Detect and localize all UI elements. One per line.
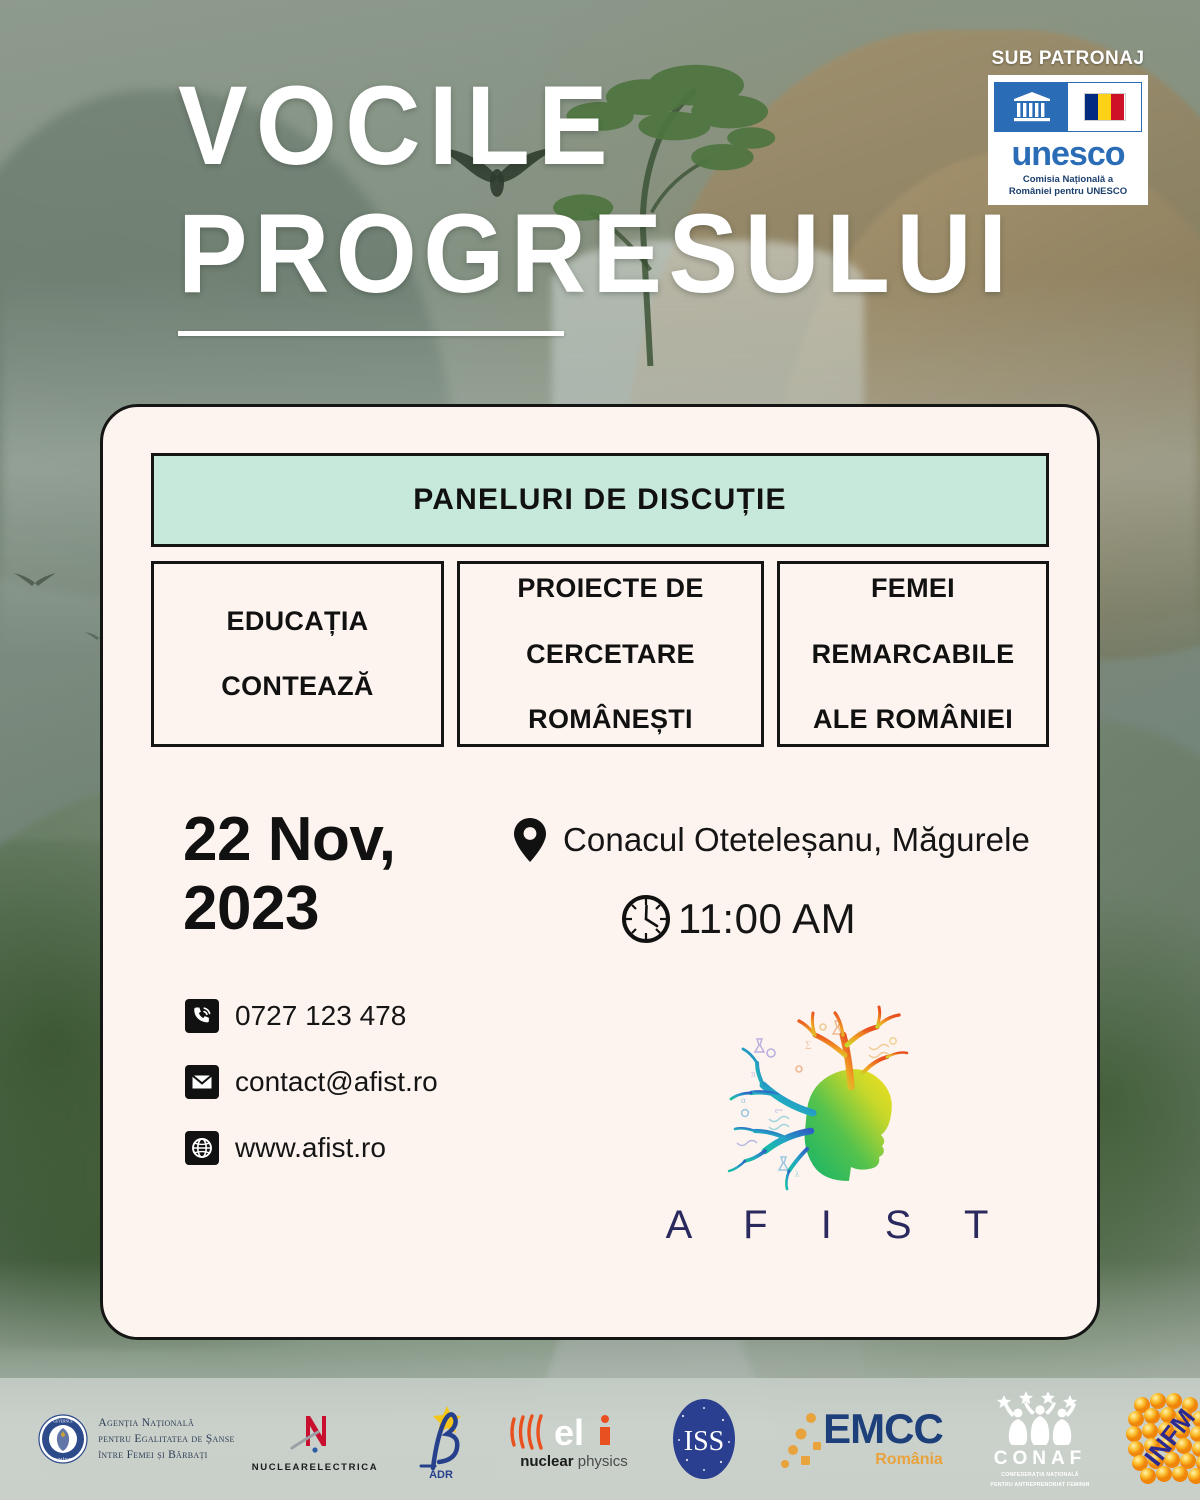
unesco-wordmark: unesco bbox=[994, 137, 1142, 171]
event-details-row: 22 Nov, 2023 Conacul Oteteleșanu, Măgure… bbox=[151, 805, 1049, 945]
sponsor-anes-text: Agenția Națională pentru Egalitatea de Ș… bbox=[98, 1415, 234, 1464]
contact-email-label: contact@afist.ro bbox=[235, 1066, 438, 1098]
sponsor-iss: ISS bbox=[648, 1378, 760, 1500]
panels-row: EDUCAȚIACONTEAZĂ PROIECTE DECERCETAREROM… bbox=[151, 561, 1049, 747]
eli-logo-icon: el bbox=[508, 1409, 640, 1455]
nuclearelectrica-logo-icon bbox=[284, 1406, 346, 1460]
contact-and-logo-row: 0727 123 478 contact@afist.ro bbox=[151, 999, 1049, 1248]
bird-silhouette-small-icon bbox=[12, 570, 58, 592]
sponsor-emcc-label: EMCC bbox=[823, 1409, 943, 1449]
afist-brain-tree-icon: π ∑ ∞ α λ e= bbox=[711, 1001, 943, 1201]
title-line-2: PROGRESULUI bbox=[178, 190, 1014, 318]
unesco-patronage-badge: SUB PATRONAJ bbox=[988, 48, 1148, 205]
event-venue-time: Conacul Oteteleșanu, Măgurele bbox=[513, 805, 1049, 945]
sponsor-anes-line2: pentru Egalitatea de Șanse bbox=[98, 1431, 234, 1447]
svg-text:α: α bbox=[741, 1095, 746, 1105]
title-line-1: VOCILE bbox=[178, 62, 1014, 190]
email-icon bbox=[185, 1065, 219, 1099]
sponsor-adr: ADR bbox=[380, 1378, 500, 1500]
unesco-temple-cell bbox=[995, 83, 1068, 131]
svg-text:GUVERNUL: GUVERNUL bbox=[53, 1420, 73, 1424]
poster-title: VOCILE PROGRESULUI bbox=[178, 62, 1076, 336]
iss-wordmark: ISS bbox=[684, 1426, 724, 1457]
conaf-figures-icon bbox=[992, 1389, 1088, 1447]
event-date-line-1: 22 Nov, bbox=[183, 805, 513, 874]
title-underline bbox=[178, 331, 564, 336]
adr-logo-icon: ADR bbox=[401, 1396, 479, 1482]
sponsor-infm: INFM bbox=[1120, 1378, 1200, 1500]
svg-text:el: el bbox=[554, 1412, 584, 1453]
sponsor-conaf-label: CONAF bbox=[994, 1448, 1087, 1470]
contact-phone[interactable]: 0727 123 478 bbox=[185, 999, 605, 1033]
iss-logo-icon: ISS bbox=[665, 1394, 743, 1484]
event-date: 22 Nov, 2023 bbox=[151, 805, 513, 945]
sponsor-conaf-sub-line1: CONFEDERAȚIA NAȚIONALĂ bbox=[1001, 1472, 1078, 1480]
unesco-emblem-row bbox=[994, 82, 1142, 132]
event-venue-label: Conacul Oteteleșanu, Măgurele bbox=[563, 821, 1030, 859]
patronage-label: SUB PATRONAJ bbox=[988, 48, 1148, 70]
panels-header: PANELURI DE DISCUȚIE bbox=[151, 453, 1049, 547]
svg-text:e=: e= bbox=[775, 1106, 784, 1115]
panel-topic-education[interactable]: EDUCAȚIACONTEAZĂ bbox=[151, 561, 444, 747]
contact-phone-label: 0727 123 478 bbox=[235, 1000, 406, 1032]
sponsor-conaf: CONAF CONFEDERAȚIA NAȚIONALĂ PENTRU ANTR… bbox=[960, 1378, 1120, 1500]
event-poster: SUB PATRONAJ bbox=[0, 0, 1200, 1500]
romania-flag-cell bbox=[1068, 83, 1141, 131]
panel-topic-research-label: PROIECTE DECERCETAREROMÂNEȘTI bbox=[517, 572, 703, 737]
svg-text:π: π bbox=[751, 1069, 756, 1079]
unesco-subtitle-line1: Comisia Națională a bbox=[994, 174, 1142, 186]
content-card: PANELURI DE DISCUȚIE EDUCAȚIACONTEAZĂ PR… bbox=[100, 404, 1100, 1340]
sponsor-bar: GUVERNUL ROMÂNIEI Agenția Națională pent… bbox=[0, 1378, 1200, 1500]
contact-website[interactable]: www.afist.ro bbox=[185, 1131, 605, 1165]
panel-topic-research[interactable]: PROIECTE DECERCETAREROMÂNEȘTI bbox=[457, 561, 764, 747]
emcc-text-block: EMCC România bbox=[823, 1409, 943, 1469]
sponsor-emcc-sublabel: România bbox=[823, 1451, 943, 1469]
event-date-line-2: 2023 bbox=[183, 874, 513, 943]
sponsor-nuclearelectrica: NUCLEARELECTRICA bbox=[250, 1378, 380, 1500]
contact-list: 0727 123 478 contact@afist.ro bbox=[151, 999, 605, 1248]
event-venue-row: Conacul Oteteleșanu, Măgurele bbox=[513, 817, 1049, 863]
afist-logo: π ∑ ∞ α λ e= A F I S T bbox=[605, 999, 1049, 1248]
afist-wordmark: A F I S T bbox=[645, 1203, 1010, 1248]
sponsor-eli-sublabel: nuclear physics bbox=[520, 1453, 628, 1470]
panel-topic-women[interactable]: FEMEIREMARCABILEALE ROMÂNIEI bbox=[777, 561, 1049, 747]
sponsor-eli: el nuclear physics bbox=[500, 1378, 648, 1500]
unesco-temple-icon bbox=[1011, 90, 1053, 124]
panel-topic-education-label: EDUCAȚIACONTEAZĂ bbox=[221, 605, 373, 704]
contact-email[interactable]: contact@afist.ro bbox=[185, 1065, 605, 1099]
guvernul-romaniei-seal-icon: GUVERNUL ROMÂNIEI bbox=[37, 1413, 89, 1465]
contact-website-label: www.afist.ro bbox=[235, 1132, 386, 1164]
romania-flag-icon bbox=[1084, 93, 1126, 121]
sponsor-anes-line3: între Femei și Bărbați bbox=[98, 1447, 234, 1463]
sponsor-conaf-sub-line2: PENTRU ANTREPRENORIAT FEMININ bbox=[990, 1482, 1089, 1490]
panels-header-label: PANELURI DE DISCUȚIE bbox=[413, 483, 786, 517]
emcc-dots-icon bbox=[777, 1404, 823, 1474]
sponsor-nuclearelectrica-label: NUCLEARELECTRICA bbox=[252, 1462, 378, 1473]
svg-text:∞: ∞ bbox=[857, 1027, 863, 1037]
adr-wordmark: ADR bbox=[429, 1469, 453, 1481]
panel-topic-women-label: FEMEIREMARCABILEALE ROMÂNIEI bbox=[812, 572, 1015, 737]
globe-icon bbox=[185, 1131, 219, 1165]
svg-text:λ: λ bbox=[795, 1169, 800, 1179]
unesco-logo-card: unesco Comisia Națională a României pent… bbox=[988, 75, 1148, 205]
unesco-subtitle-line2: României pentru UNESCO bbox=[994, 186, 1142, 198]
sponsor-emcc: EMCC România bbox=[760, 1378, 960, 1500]
phone-icon bbox=[185, 999, 219, 1033]
sponsor-anes-line1: Agenția Națională bbox=[98, 1415, 234, 1431]
sponsor-anes: GUVERNUL ROMÂNIEI Agenția Națională pent… bbox=[0, 1378, 250, 1500]
event-time-label: 11:00 AM bbox=[678, 895, 856, 943]
event-time-row: 11:00 AM bbox=[513, 893, 1049, 945]
svg-text:ROMÂNIEI: ROMÂNIEI bbox=[54, 1457, 73, 1462]
svg-text:∑: ∑ bbox=[805, 1039, 811, 1049]
map-pin-icon bbox=[513, 817, 547, 863]
clock-icon bbox=[620, 893, 672, 945]
infm-lattice-icon: INFM bbox=[1120, 1389, 1200, 1489]
